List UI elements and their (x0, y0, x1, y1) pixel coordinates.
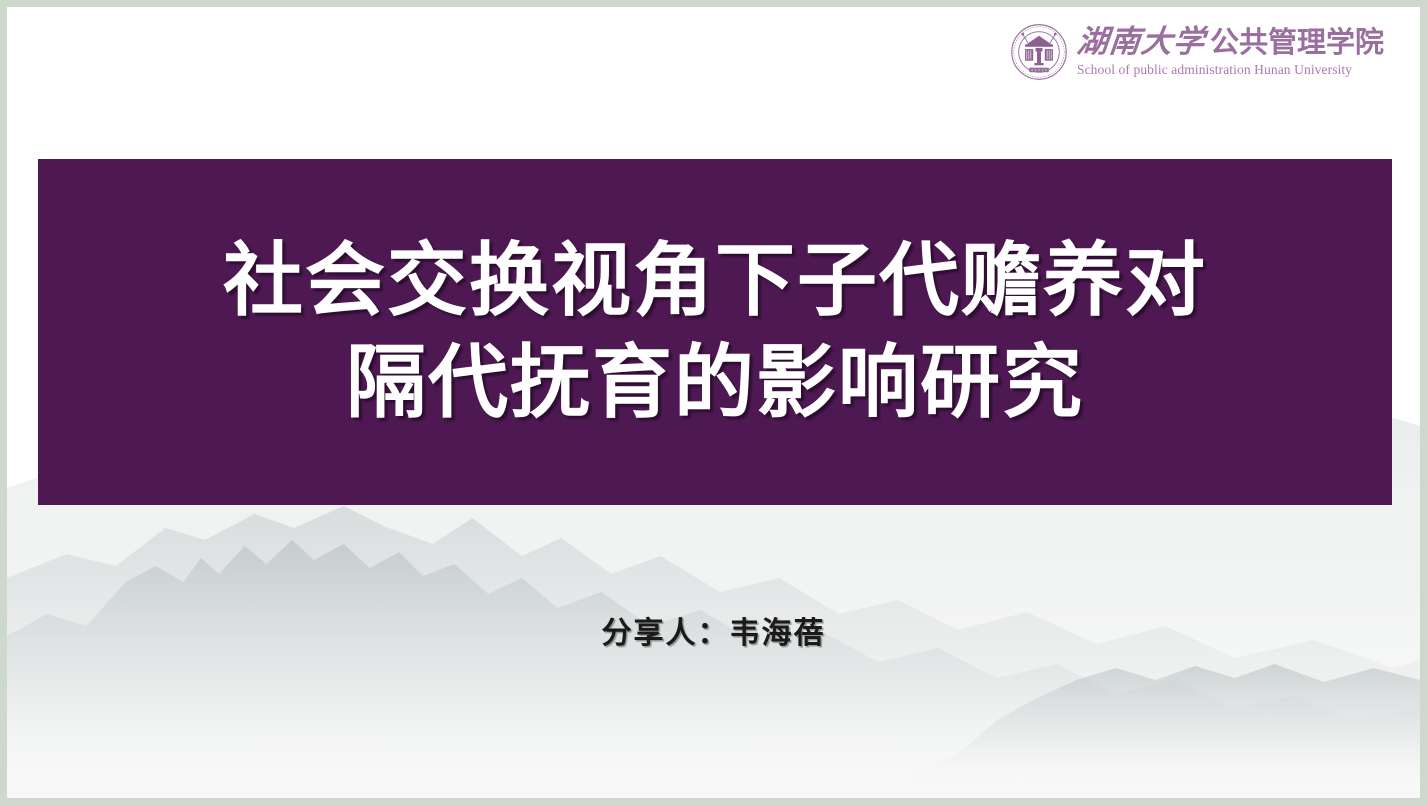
logo-school-name: 公共管理学院 (1210, 28, 1384, 57)
logo-chinese-name: 湖南大学 公共管理学院 (1077, 27, 1384, 58)
logo-university-name: 湖南大学 (1075, 27, 1206, 58)
logo-wordmark: 湖南大学 公共管理学院 School of public administrat… (1077, 27, 1384, 78)
slide-canvas: 湖南大学 公共管理学院 School of public administrat… (7, 7, 1420, 798)
page-title-line-2: 隔代抚育的影响研究 (346, 341, 1084, 425)
page-title-line-1: 社会交换视角下子代赡养对 (223, 239, 1207, 323)
university-seal-icon (1010, 23, 1068, 81)
presenter-label: 分享人：韦海蓓 (7, 608, 1420, 652)
logo-english-name: School of public administration Hunan Un… (1077, 62, 1384, 78)
presentation-slide: 湖南大学 公共管理学院 School of public administrat… (0, 0, 1427, 805)
title-banner: 社会交换视角下子代赡养对 隔代抚育的影响研究 (38, 159, 1392, 505)
hunan-university-logo: 湖南大学 公共管理学院 School of public administrat… (1010, 23, 1384, 81)
